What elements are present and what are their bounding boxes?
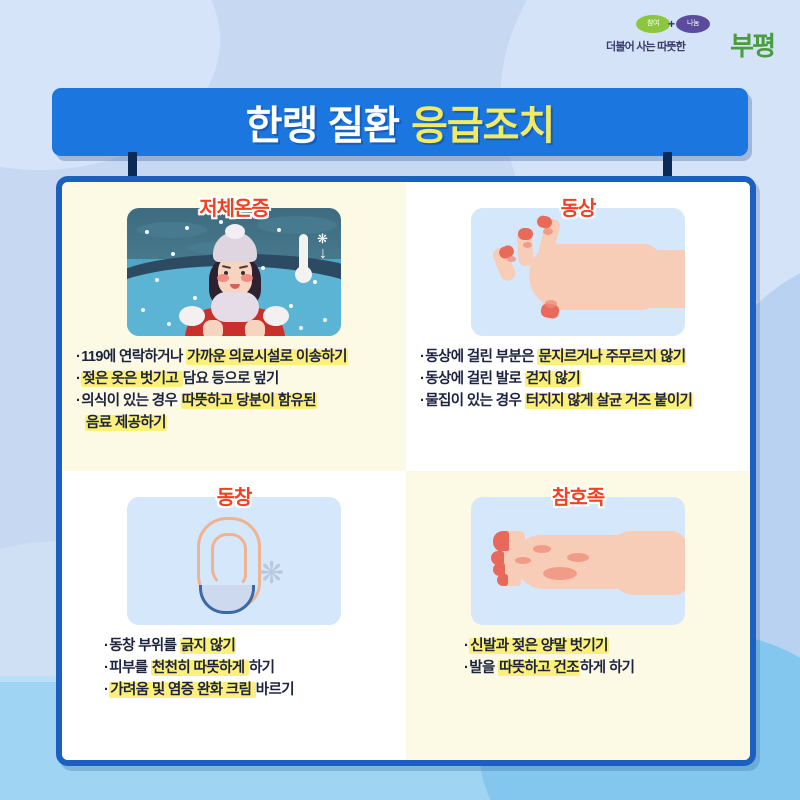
panel-frostbite: 동상 ·동상에 걸린 부분은 문지르거나 주무르지 않기 [406, 182, 750, 471]
logo-district-name: 부평 [730, 26, 774, 63]
bullet-list-trench-foot: ·신발과 젖은 양말 벗기기 ·발을 따뜻하고 건조하게 하기 [414, 635, 742, 679]
logo-bubble-participation: 참여 [636, 15, 670, 33]
panel-heading-trench-foot: 참호족 [552, 481, 604, 510]
title-banner: 한랭 질환 응급조치 [52, 88, 748, 156]
illustration-frostbite [471, 208, 685, 336]
bullet-item: ·발을 따뜻하고 건조하게 하기 [464, 657, 736, 679]
logo-plus-icon: + [668, 17, 675, 31]
temperature-down-arrow-icon: ↓ [319, 246, 327, 262]
bullet-item: ·물집이 있는 경우 터지지 않게 살균 거즈 붙이기 [420, 390, 736, 412]
page-title-main: 한랭 질환 [246, 93, 399, 151]
snowflake-icon: ❋ [259, 559, 284, 589]
panel-hypothermia: 저체온증 [62, 182, 406, 471]
bullet-list-hypothermia: ·119에 연락하거나 가까운 의료시설로 이송하기 ·젖은 옷은 벗기고 담요… [70, 346, 398, 434]
panel-chilblains: 동창 ❋ ·동창 부위를 긁지 않기 ·피부를 천천히 따뜻하게 하기 ·가려움… [62, 471, 406, 760]
infographic-poster: 참여 + 나눔 더불어 사는 따뜻한 부평 한랭 질환 응급조치 저체온증 [0, 0, 800, 800]
snowflake-icon: ❋ [317, 232, 328, 245]
bullet-item: ·동창 부위를 긁지 않기 [104, 635, 392, 657]
bullet-item: ·가려움 및 염증 완화 크림 바르기 [104, 679, 392, 701]
content-board: 저체온증 [56, 176, 756, 766]
bullet-item: ·신발과 젖은 양말 벗기기 [464, 635, 736, 657]
bullet-item: ·119에 연락하거나 가까운 의료시설로 이송하기 [76, 346, 392, 368]
illustration-hypothermia: ❋ ↓ [127, 208, 341, 336]
illustration-chilblains: ❋ [127, 497, 341, 625]
bullet-item-continuation: 음료 제공하기 [76, 412, 392, 434]
bullet-list-frostbite: ·동상에 걸린 부분은 문지르거나 주무르지 않기 ·동상에 걸린 발로 걷지 … [414, 346, 742, 412]
panel-trench-foot: 참호족 ·신발과 젖은 양말 벗기기 [406, 471, 750, 760]
bullet-item: ·동상에 걸린 부분은 문지르거나 주무르지 않기 [420, 346, 736, 368]
logo-bubble-sharing: 나눔 [676, 15, 710, 33]
bullet-list-chilblains: ·동창 부위를 긁지 않기 ·피부를 천천히 따뜻하게 하기 ·가려움 및 염증… [70, 635, 398, 701]
bullet-item: ·피부를 천천히 따뜻하게 하기 [104, 657, 392, 679]
page-title-accent: 응급조치 [411, 93, 554, 151]
illustration-trench-foot [471, 497, 685, 625]
bullet-item: ·동상에 걸린 발로 걷지 않기 [420, 368, 736, 390]
bupyeong-logo: 참여 + 나눔 더불어 사는 따뜻한 부평 [598, 14, 778, 68]
panel-heading-frostbite: 동상 [561, 192, 596, 221]
panel-heading-hypothermia: 저체온증 [199, 192, 269, 221]
logo-slogan: 더불어 사는 따뜻한 [606, 38, 685, 54]
bullet-item: ·의식이 있는 경우 따뜻하고 당분이 함유된 [76, 390, 392, 412]
panel-heading-chilblains: 동창 [217, 481, 252, 510]
bullet-item: ·젖은 옷은 벗기고 담요 등으로 덮기 [76, 368, 392, 390]
